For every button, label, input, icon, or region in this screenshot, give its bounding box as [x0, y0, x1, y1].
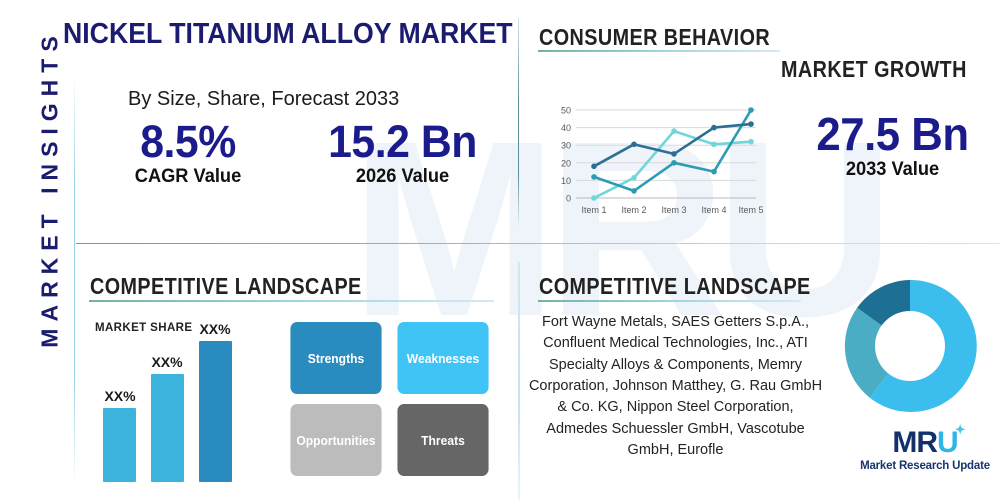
horizontal-divider [76, 243, 1000, 244]
section-heading-market-growth: MARKET GROWTH [781, 56, 967, 83]
bar-2 [151, 374, 184, 482]
svg-text:Item 2: Item 2 [621, 205, 646, 215]
swot-label-strengths: Strengths [308, 351, 364, 366]
consumer-behavior-underline [538, 50, 780, 52]
svg-text:Item 1: Item 1 [581, 205, 606, 215]
svg-text:40: 40 [561, 123, 571, 133]
line-chart-x-axis-labels: Item 1 Item 2 Item 3 Item 4 Item 5 [581, 205, 763, 215]
svg-text:Item 3: Item 3 [661, 205, 686, 215]
stat-label-2026: 2026 Value [304, 166, 501, 188]
section-heading-competitive-landscape-right: COMPETITIVE LANDSCAPE [539, 273, 811, 300]
market-share-title: MARKET SHARE [95, 322, 192, 334]
bar-label-1: XX% [96, 388, 144, 404]
section-heading-consumer-behavior: CONSUMER BEHAVIOR [539, 24, 770, 51]
sparkle-icon: ✦ [955, 423, 965, 436]
svg-text:30: 30 [561, 141, 571, 151]
line-chart-svg: 50 40 30 20 10 0 Item 1 Item 2 Item 3 It… [548, 100, 763, 218]
bar-3 [199, 341, 232, 482]
page-subtitle: By Size, Share, Forecast 2033 [128, 88, 399, 111]
competitive-landscape-donut [836, 272, 984, 420]
swot-box-weaknesses[interactable]: Weaknesses [397, 322, 488, 394]
stat-label-2033: 2033 Value [794, 159, 991, 181]
sidebar-market-insights-label: MARKET INSIGHTS [37, 0, 64, 389]
svg-text:10: 10 [561, 176, 571, 186]
market-share-bar-chart: MARKET SHARE XX% XX% XX% [95, 322, 270, 482]
sidebar-divider [74, 75, 75, 485]
vertical-divider-top [518, 18, 519, 226]
bar-1 [103, 408, 136, 482]
line-chart-gridlines [576, 110, 756, 198]
competitive-landscape-left-underline [89, 300, 494, 302]
vertical-divider-bottom [518, 262, 520, 500]
stat-value-2033: 27.5 Bn [795, 110, 990, 158]
stat-block-2033: 27.5 Bn 2033 Value [790, 110, 995, 181]
stat-block-2026: 15.2 Bn 2026 Value [300, 118, 505, 188]
mru-mark-mr: MR [892, 426, 937, 459]
svg-text:20: 20 [561, 158, 571, 168]
section-heading-competitive-landscape-left: COMPETITIVE LANDSCAPE [90, 273, 362, 300]
mru-wordmark: MRU✦ [892, 428, 957, 458]
swot-label-weaknesses: Weaknesses [407, 351, 479, 366]
mru-tagline: Market Research Update [855, 460, 995, 472]
stat-value-2026: 15.2 Bn [305, 118, 500, 165]
bar-label-2: XX% [143, 354, 191, 370]
stat-value-cagr: 8.5% [103, 118, 274, 165]
stat-label-cagr: CAGR Value [102, 166, 275, 188]
stat-block-cagr: 8.5% CAGR Value [98, 118, 278, 188]
swot-box-threats[interactable]: Threats [397, 404, 488, 476]
market-growth-line-chart: 50 40 30 20 10 0 Item 1 Item 2 Item 3 It… [548, 100, 763, 218]
donut-svg [836, 272, 984, 420]
svg-text:Item 5: Item 5 [738, 205, 763, 215]
svg-text:Item 4: Item 4 [701, 205, 726, 215]
swot-label-threats: Threats [421, 433, 465, 448]
donut-hole [875, 311, 945, 381]
swot-label-opportunities: Opportunities [296, 433, 375, 448]
line-chart-y-axis-labels: 50 40 30 20 10 0 [561, 106, 571, 204]
bar-label-3: XX% [191, 321, 239, 337]
svg-text:50: 50 [561, 106, 571, 116]
swot-box-opportunities[interactable]: Opportunities [290, 404, 381, 476]
svg-text:0: 0 [566, 194, 571, 204]
swot-box-strengths[interactable]: Strengths [290, 322, 381, 394]
company-list: Fort Wayne Metals, SAES Getters S.p.A., … [528, 312, 823, 461]
page-title: NICKEL TITANIUM ALLOY MARKET [63, 18, 513, 51]
mru-logo: MRU✦ Market Research Update [855, 428, 995, 472]
competitive-landscape-right-underline [538, 300, 801, 302]
swot-matrix: Strengths Weaknesses Opportunities Threa… [287, 322, 492, 482]
